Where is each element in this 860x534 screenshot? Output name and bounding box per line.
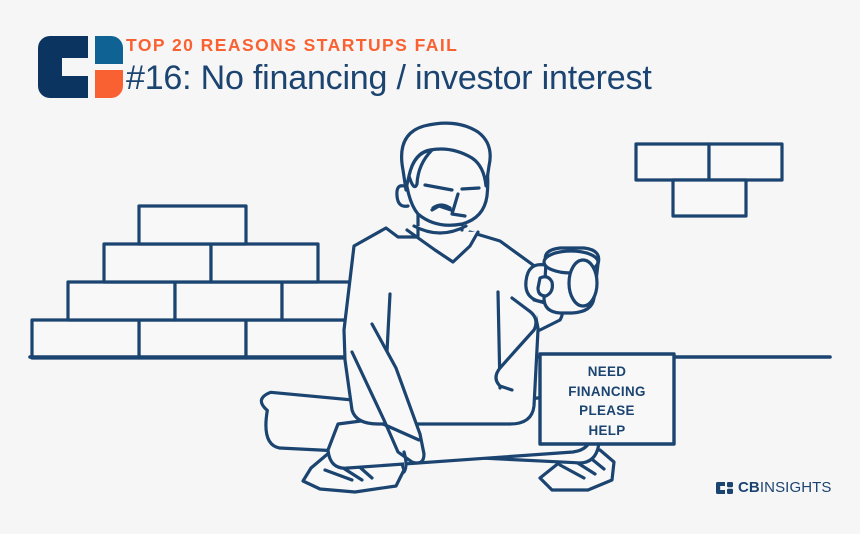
head bbox=[397, 123, 490, 236]
cb-insights-watermark-text: CBINSIGHTS bbox=[738, 480, 832, 495]
left-brick-wall bbox=[32, 206, 389, 358]
illustration bbox=[0, 0, 860, 534]
sign-line-4: HELP bbox=[549, 421, 665, 441]
infographic-page: TOP 20 REASONS STARTUPS FAIL #16: No fin… bbox=[0, 0, 860, 534]
sign-text: NEED FINANCING PLEASE HELP bbox=[549, 362, 665, 440]
watermark-bold: CB bbox=[738, 479, 760, 496]
cb-insights-watermark-icon bbox=[716, 481, 733, 493]
sign-line-2: FINANCING bbox=[549, 382, 665, 402]
right-floating-bricks bbox=[636, 144, 782, 216]
sign-line-1: NEED bbox=[549, 362, 665, 382]
cb-insights-watermark: CBINSIGHTS bbox=[716, 478, 832, 496]
watermark-light: INSIGHTS bbox=[760, 479, 832, 496]
sign-line-3: PLEASE bbox=[549, 401, 665, 421]
